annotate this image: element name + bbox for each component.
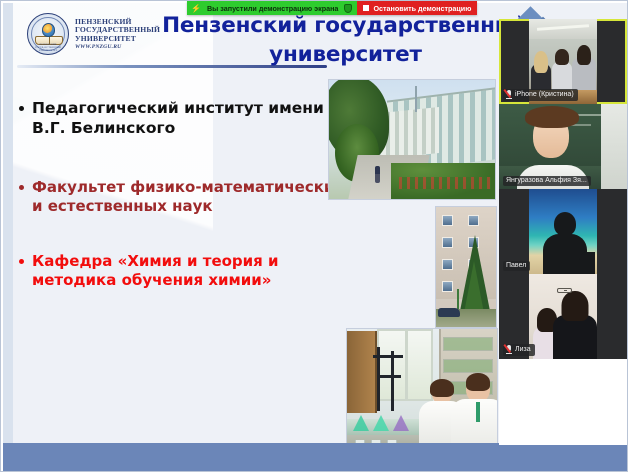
university-logo: ПЕНЗЕНСКИЙ ГОСУДАРСТВЕННЫЙ УНИВЕРСИТЕТ П… bbox=[27, 13, 160, 55]
participant-name: iPhone (Кристина) bbox=[515, 91, 574, 98]
shield-icon[interactable] bbox=[344, 4, 352, 13]
bullet-text-2: Факультет физико-математических и естест… bbox=[32, 178, 345, 216]
video-tile[interactable]: Павел bbox=[499, 189, 627, 274]
zoom-panel-filler bbox=[499, 359, 627, 445]
university-seal-icon: ПЕНЗЕНСКИЙ ГОСУДАРСТВЕННЫЙ УНИВЕРСИТЕТ bbox=[27, 13, 69, 55]
share-status-text: Вы запустили демонстрацию экрана bbox=[207, 4, 338, 13]
screen-capture-window: ПЕНЗЕНСКИЙ ГОСУДАРСТВЕННЫЙ УНИВЕРСИТЕТ П… bbox=[0, 0, 628, 472]
seal-caption: ПЕНЗЕНСКИЙ ГОСУДАРСТВЕННЫЙ УНИВЕРСИТЕТ bbox=[28, 43, 68, 52]
chemistry-lab-photo bbox=[346, 328, 498, 458]
dormitory-building-photo bbox=[435, 206, 497, 328]
bullet-dot-icon bbox=[19, 106, 24, 111]
list-item: Факультет физико-математических и естест… bbox=[15, 178, 345, 216]
slide-left-accent-band bbox=[3, 3, 13, 443]
screen-share-notification-bar[interactable]: ⚡ Вы запустили демонстрацию экрана Остан… bbox=[187, 1, 477, 15]
participant-name: Янгуразова Альфия Зя... bbox=[506, 177, 587, 184]
lightning-icon: ⚡ bbox=[191, 4, 201, 13]
participant-name: Лиза bbox=[515, 346, 531, 353]
stop-sharing-button[interactable]: Остановить демонстрацию bbox=[357, 1, 477, 15]
share-status: ⚡ Вы запустили демонстрацию экрана bbox=[187, 1, 357, 15]
stop-sharing-label: Остановить демонстрацию bbox=[373, 4, 471, 13]
bullet-dot-icon bbox=[19, 259, 24, 264]
video-tile[interactable]: iPhone (Кристина) bbox=[499, 19, 627, 104]
stop-square-icon bbox=[363, 5, 369, 11]
participant-name: Павел bbox=[506, 262, 526, 269]
participant-label: Павел bbox=[503, 261, 530, 271]
bullet-text-3: Кафедра «Химия и теория и методика обуче… bbox=[32, 252, 345, 290]
list-item: Кафедра «Химия и теория и методика обуче… bbox=[15, 252, 345, 290]
participant-label: Лиза bbox=[503, 344, 535, 356]
video-tile[interactable]: Янгуразова Альфия Зя... bbox=[499, 104, 627, 189]
participant-label: Янгуразова Альфия Зя... bbox=[503, 176, 591, 186]
video-tile[interactable]: Лиза bbox=[499, 274, 627, 359]
page-title: Пензенский государственный университет bbox=[143, 11, 548, 69]
list-item: Педагогический институт имени В.Г. Белин… bbox=[15, 99, 345, 138]
slide-bullet-list: Педагогический институт имени В.Г. Белин… bbox=[15, 99, 345, 290]
slide-bottom-bar bbox=[3, 443, 627, 471]
mic-muted-icon bbox=[506, 345, 512, 354]
bullet-text-1: Педагогический институт имени В.Г. Белин… bbox=[32, 99, 345, 138]
campus-building-photo bbox=[328, 79, 496, 200]
mic-muted-icon bbox=[506, 90, 512, 99]
zoom-video-filmstrip[interactable]: iPhone (Кристина) Янгуразова Альфия Зя..… bbox=[499, 19, 627, 359]
bullet-dot-icon bbox=[19, 185, 24, 190]
participant-label: iPhone (Кристина) bbox=[503, 89, 578, 101]
